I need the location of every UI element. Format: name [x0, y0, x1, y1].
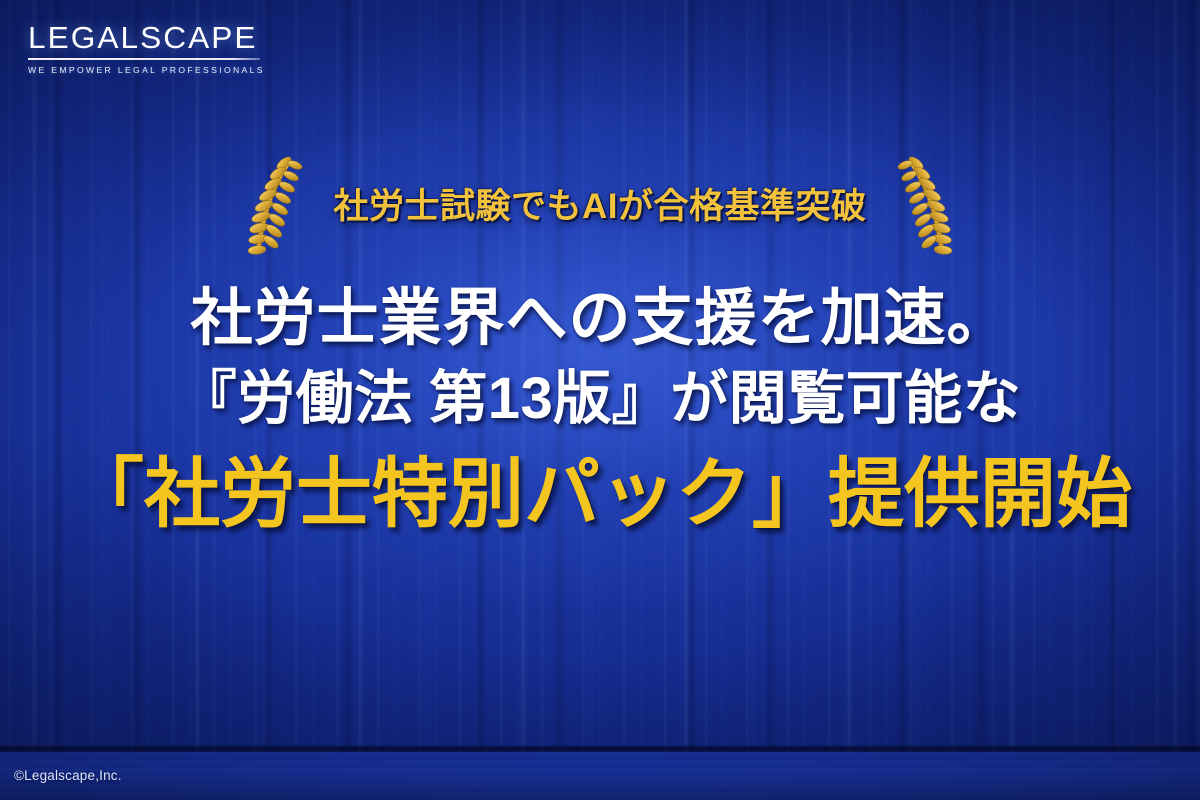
headline-line-3: 「社労士特別パック」提供開始 — [68, 450, 1132, 540]
background-floor-streaks — [0, 752, 1200, 800]
copyright-notice: ©Legalscape,Inc. — [14, 768, 122, 783]
headline-line-1: 社労士業界への支援を加速。 — [190, 282, 1009, 355]
laurel-branch-icon — [243, 154, 307, 258]
laurel-branch-icon — [893, 154, 957, 258]
headline-block: 社労士業界への支援を加速。 『労働法 第13版』が閲覧可能な 「社労士特別パック… — [0, 282, 1200, 539]
announcement-slide: LEGALSCAPE WE EMPOWER LEGAL PROFESSIONAL… — [0, 0, 1200, 800]
headline-line-2: 『労働法 第13版』が閲覧可能な — [179, 365, 1022, 433]
logo-tagline: WE EMPOWER LEGAL PROFESSIONALS — [28, 65, 264, 75]
award-text: 社労士試験でもAIが合格基準突破 — [333, 189, 866, 224]
background-floor-edge — [0, 745, 1200, 752]
logo-wordmark: LEGALSCAPE — [28, 22, 269, 53]
legalscape-logo: LEGALSCAPE WE EMPOWER LEGAL PROFESSIONAL… — [28, 22, 264, 75]
award-banner: 社労士試験でもAIが合格基準突破 — [0, 152, 1200, 260]
logo-divider — [28, 58, 260, 60]
